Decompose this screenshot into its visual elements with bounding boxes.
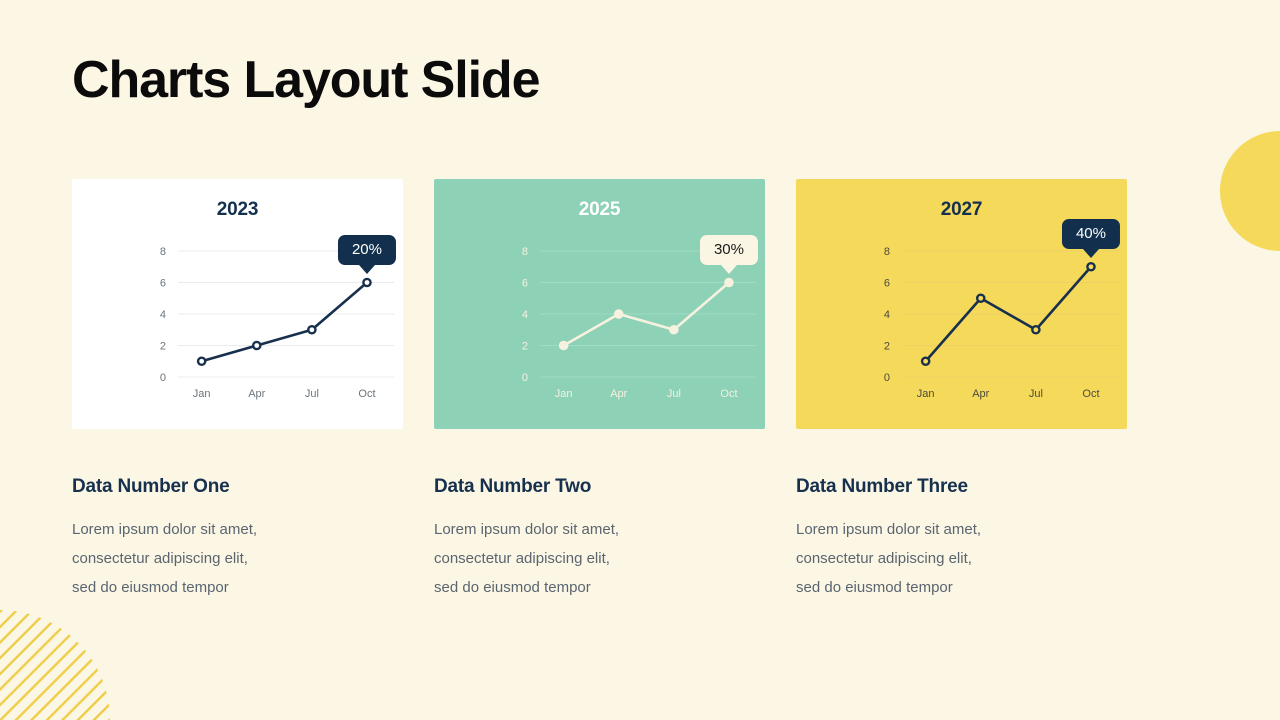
chart-columns: 2023 02468JanAprJulOct 20% Data Number O… [72,179,1128,602]
line-chart-2023: 02468JanAprJulOct [72,179,403,429]
svg-text:Apr: Apr [972,388,989,400]
caption-line: consectetur adipiscing elit, [434,544,765,573]
svg-text:Oct: Oct [720,388,737,400]
slide-canvas: Charts Layout Slide 2023 02468JanAprJulO… [0,0,1280,720]
caption-line: Lorem ipsum dolor sit amet, [796,515,1127,544]
svg-text:0: 0 [160,372,166,384]
chart-column-3: 2027 02468JanAprJulOct 40% Data Number T… [796,179,1127,602]
svg-text:2: 2 [522,341,528,353]
caption-line: sed do eiusmod tempor [72,573,403,602]
svg-text:6: 6 [884,278,890,290]
caption-line: Lorem ipsum dolor sit amet, [72,515,403,544]
svg-text:8: 8 [884,246,890,258]
page-title: Charts Layout Slide [72,52,539,109]
decorative-striped-circle-shape [0,610,110,720]
svg-text:6: 6 [160,278,166,290]
chart-column-1: 2023 02468JanAprJulOct 20% Data Number O… [72,179,403,602]
line-chart-2027: 02468JanAprJulOct [796,179,1127,429]
svg-text:0: 0 [522,372,528,384]
svg-text:6: 6 [522,278,528,290]
caption-line: consectetur adipiscing elit, [796,544,1127,573]
svg-text:Jul: Jul [667,388,681,400]
svg-text:Apr: Apr [610,388,627,400]
decorative-circle-shape [1220,131,1280,251]
svg-text:2: 2 [160,341,166,353]
svg-text:Oct: Oct [358,388,375,400]
svg-text:4: 4 [884,309,890,321]
caption-body-3: Lorem ipsum dolor sit amet, consectetur … [796,515,1127,602]
chart-annotation-tooltip-2027[interactable]: 40% [1062,219,1120,249]
svg-text:Apr: Apr [248,388,265,400]
svg-text:Jul: Jul [1029,388,1043,400]
chart-card-2023[interactable]: 2023 02468JanAprJulOct 20% [72,179,403,429]
chart-card-2025[interactable]: 2025 02468JanAprJulOct 30% [434,179,765,429]
caption-block-1: Data Number One Lorem ipsum dolor sit am… [72,476,403,602]
caption-title-1: Data Number One [72,476,403,498]
chart-annotation-tooltip-2025[interactable]: 30% [700,235,758,265]
caption-line: Lorem ipsum dolor sit amet, [434,515,765,544]
chart-annotation-tooltip-2023[interactable]: 20% [338,235,396,265]
svg-text:2: 2 [884,341,890,353]
tooltip-value: 20% [352,241,382,258]
caption-title-2: Data Number Two [434,476,765,498]
chart-card-2027[interactable]: 2027 02468JanAprJulOct 40% [796,179,1127,429]
caption-line: sed do eiusmod tempor [796,573,1127,602]
caption-line: consectetur adipiscing elit, [72,544,403,573]
svg-text:8: 8 [522,246,528,258]
caption-block-2: Data Number Two Lorem ipsum dolor sit am… [434,476,765,602]
svg-text:Oct: Oct [1082,388,1099,400]
chart-column-2: 2025 02468JanAprJulOct 30% Data Number T… [434,179,765,602]
svg-text:4: 4 [522,309,528,321]
svg-text:Jan: Jan [193,388,211,400]
caption-title-3: Data Number Three [796,476,1127,498]
svg-text:Jul: Jul [305,388,319,400]
caption-block-3: Data Number Three Lorem ipsum dolor sit … [796,476,1127,602]
caption-body-2: Lorem ipsum dolor sit amet, consectetur … [434,515,765,602]
svg-text:8: 8 [160,246,166,258]
svg-text:Jan: Jan [917,388,935,400]
caption-body-1: Lorem ipsum dolor sit amet, consectetur … [72,515,403,602]
svg-text:Jan: Jan [555,388,573,400]
svg-text:4: 4 [160,309,166,321]
caption-line: sed do eiusmod tempor [434,573,765,602]
line-chart-2025: 02468JanAprJulOct [434,179,765,429]
tooltip-value: 40% [1076,225,1106,242]
tooltip-value: 30% [714,241,744,258]
svg-text:0: 0 [884,372,890,384]
